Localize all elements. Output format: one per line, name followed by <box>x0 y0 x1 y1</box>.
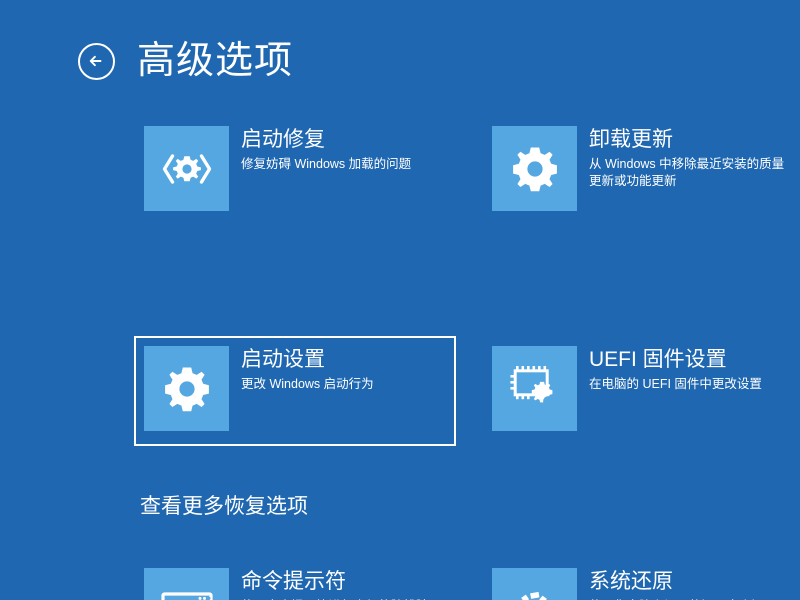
option-title: 启动设置 <box>241 348 374 373</box>
winre-advanced-options-screen: 高级选项 启动修复 修复妨 <box>0 0 800 600</box>
command-prompt-icon: C:\ <box>144 568 229 600</box>
option-tile-text: 命令提示符 使用命令提示符进行高级故障排除 <box>229 568 429 600</box>
option-tile-text: 启动修复 修复妨碍 Windows 加载的问题 <box>229 126 411 173</box>
option-tile-text: 启动设置 更改 Windows 启动行为 <box>229 346 374 393</box>
startup-repair-icon <box>144 126 229 211</box>
system-restore-disk-icon <box>492 568 577 600</box>
uefi-firmware-chip-icon <box>492 346 577 431</box>
option-tile-text: 系统还原 使用你电脑上记录的还原点来还原 Windows <box>577 568 794 600</box>
option-title: 启动修复 <box>241 128 411 153</box>
option-tile-text: 卸载更新 从 Windows 中移除最近安装的质量更新或功能更新 <box>577 126 794 190</box>
option-tile-startup-settings[interactable]: 启动设置 更改 Windows 启动行为 <box>134 336 456 446</box>
option-tile-uninstall-updates[interactable]: 卸载更新 从 Windows 中移除最近安装的质量更新或功能更新 <box>482 116 800 226</box>
startup-settings-gear-icon <box>144 346 229 431</box>
option-tile-text: UEFI 固件设置 在电脑的 UEFI 固件中更改设置 <box>577 346 762 393</box>
option-tile-system-restore[interactable]: 系统还原 使用你电脑上记录的还原点来还原 Windows <box>482 558 800 600</box>
page-title: 高级选项 <box>137 42 293 80</box>
option-title: 命令提示符 <box>241 570 429 595</box>
see-more-recovery-options-link[interactable]: 查看更多恢复选项 <box>140 490 308 520</box>
option-description: 从 Windows 中移除最近安装的质量更新或功能更新 <box>589 156 794 190</box>
option-description: 修复妨碍 Windows 加载的问题 <box>241 156 411 173</box>
option-tile-command-prompt[interactable]: C:\ 命令提示符 使用命令提示符进行高级故障排除 <box>134 558 456 600</box>
options-column-right: 卸载更新 从 Windows 中移除最近安装的质量更新或功能更新 <box>482 116 800 446</box>
options-column-left: 启动修复 修复妨碍 Windows 加载的问题 启动设置 更改 Wi <box>134 116 459 446</box>
option-description: 更改 Windows 启动行为 <box>241 376 374 393</box>
page-header: 高级选项 <box>78 42 293 80</box>
option-title: UEFI 固件设置 <box>589 348 762 373</box>
option-tile-uefi-firmware-settings[interactable]: UEFI 固件设置 在电脑的 UEFI 固件中更改设置 <box>482 336 800 446</box>
option-description: 在电脑的 UEFI 固件中更改设置 <box>589 376 762 393</box>
option-title: 卸载更新 <box>589 128 794 153</box>
uninstall-updates-gear-icon <box>492 126 577 211</box>
option-tile-startup-repair[interactable]: 启动修复 修复妨碍 Windows 加载的问题 <box>134 116 456 226</box>
back-arrow-circle-icon[interactable] <box>78 43 115 80</box>
option-title: 系统还原 <box>589 570 794 595</box>
